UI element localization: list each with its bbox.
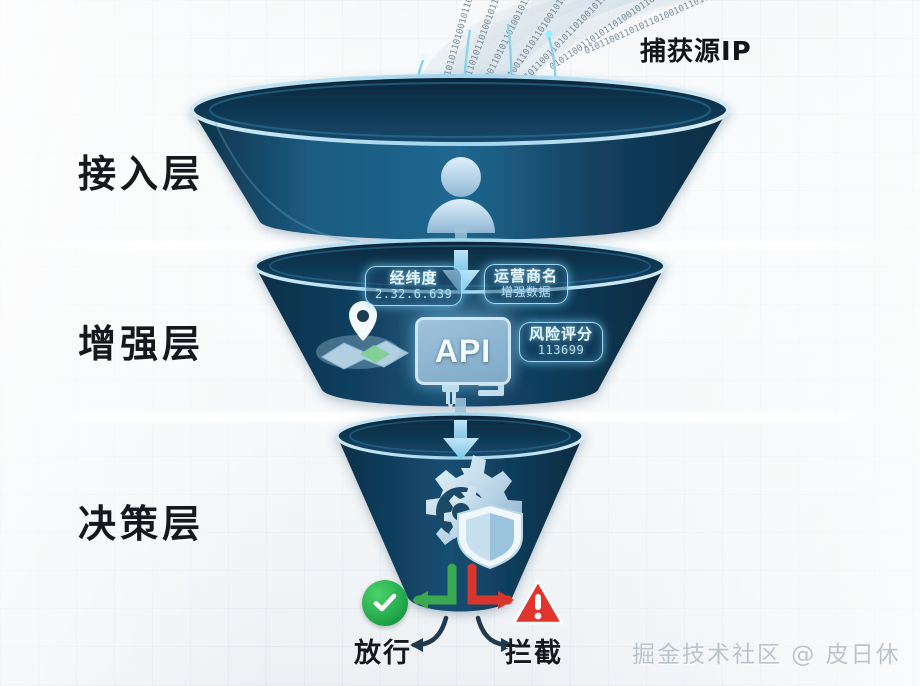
stage-label-access: 接入层 bbox=[78, 155, 204, 193]
badge-carrier[interactable]: 运营商名 增强数据 bbox=[484, 264, 568, 304]
outcome-label-allow: 放行 bbox=[354, 631, 412, 670]
badge-risk-value: 113699 bbox=[529, 344, 593, 357]
warning-triangle-icon bbox=[512, 578, 564, 626]
badge-risk-title: 风险评分 bbox=[529, 327, 593, 343]
api-icon: API bbox=[415, 317, 511, 385]
watermark: 掘金技术社区 @ 皮日休 bbox=[632, 635, 901, 669]
badge-risk[interactable]: 风险评分 113699 bbox=[519, 322, 603, 362]
check-circle-icon bbox=[362, 580, 408, 626]
infographic-canvas: 0101100110101101001011010 01011001101011… bbox=[0, 0, 920, 686]
api-label: API bbox=[435, 333, 491, 370]
badge-geo[interactable]: 经纬度 2.32.6.639 bbox=[365, 266, 462, 306]
badge-carrier-title: 运营商名 bbox=[494, 269, 558, 285]
outcome-connectors bbox=[414, 618, 510, 645]
outcome-label-block: 拦截 bbox=[505, 631, 563, 670]
badge-geo-value: 2.32.6.639 bbox=[375, 288, 452, 301]
stage-label-enrich: 增强层 bbox=[78, 325, 204, 363]
stage-label-decide: 决策层 bbox=[78, 505, 204, 543]
capture-source-ip-label: 捕获源IP bbox=[640, 31, 752, 68]
badge-carrier-value: 增强数据 bbox=[494, 286, 558, 299]
badge-geo-title: 经纬度 bbox=[375, 271, 452, 287]
